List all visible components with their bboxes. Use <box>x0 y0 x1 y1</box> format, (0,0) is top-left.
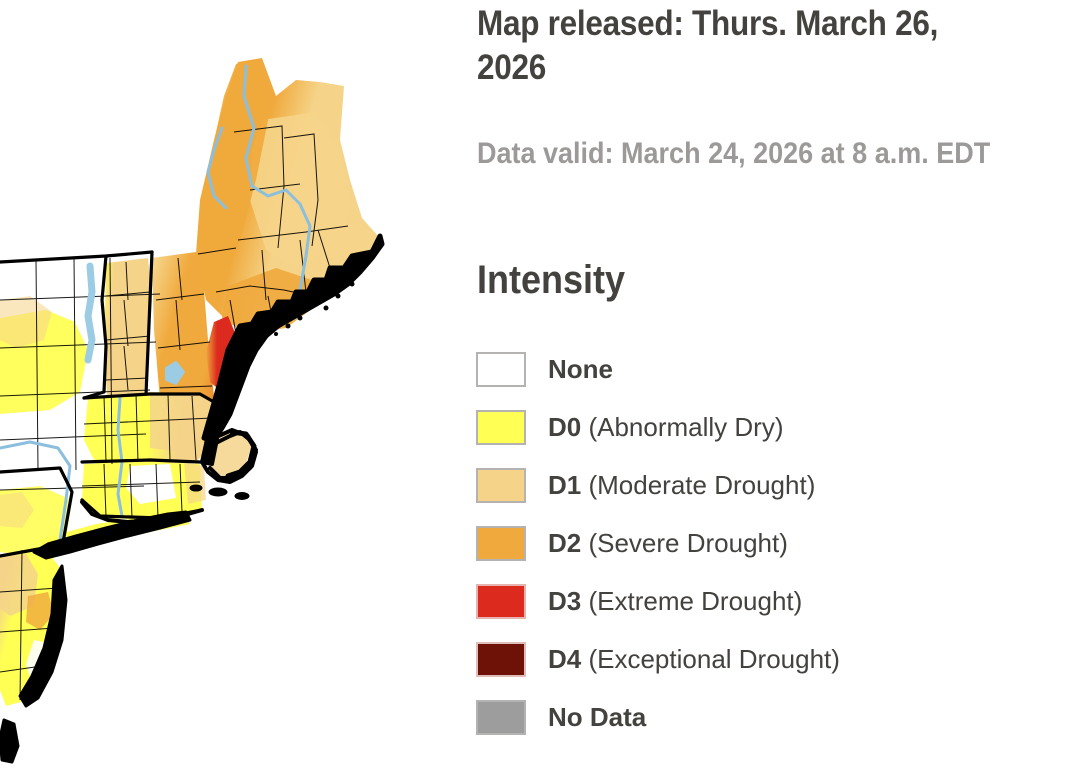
legend-swatch-d0 <box>476 410 526 445</box>
legend-swatch-d2 <box>476 526 526 561</box>
legend-item-d4[interactable]: D4 (Exceptional Drought) <box>476 630 1066 688</box>
legend-item-d1[interactable]: D1 (Moderate Drought) <box>476 456 1066 514</box>
legend-item-d0[interactable]: D0 (Abnormally Dry) <box>476 398 1066 456</box>
legend-swatch-d3 <box>476 584 526 619</box>
legend-label-none: None <box>548 354 613 384</box>
legend-label-d3: D3 (Extreme Drought) <box>548 586 802 616</box>
legend-swatch-d1 <box>476 468 526 503</box>
map-info-panel: Map released: Thurs. March 26, 2026 Data… <box>470 0 1071 768</box>
legend-item-d2[interactable]: D2 (Severe Drought) <box>476 514 1066 572</box>
drought-map-panel <box>0 0 470 768</box>
intensity-heading: Intensity <box>477 256 625 304</box>
legend-swatch-none <box>476 352 526 387</box>
legend-swatch-d4 <box>476 642 526 677</box>
data-valid-subtitle: Data valid: March 24, 2026 at 8 a.m. EDT <box>477 134 1053 174</box>
legend-item-d3[interactable]: D3 (Extreme Drought) <box>476 572 1066 630</box>
intensity-legend: None D0 (Abnormally Dry) D1 (Moderate Dr… <box>476 340 1066 746</box>
legend-item-none[interactable]: None <box>476 340 1066 398</box>
legend-label-d1: D1 (Moderate Drought) <box>548 470 815 500</box>
legend-item-no-data[interactable]: No Data <box>476 688 1066 746</box>
map-released-title: Map released: Thurs. March 26, 2026 <box>477 2 1004 90</box>
legend-label-d0: D0 (Abnormally Dry) <box>548 412 784 442</box>
drought-map-graphic <box>0 0 470 768</box>
legend-label-d4: D4 (Exceptional Drought) <box>548 644 840 674</box>
legend-label-no-data: No Data <box>548 702 646 732</box>
drought-monitor-figure: Map released: Thurs. March 26, 2026 Data… <box>0 0 1071 768</box>
legend-swatch-no-data <box>476 700 526 735</box>
legend-label-d2: D2 (Severe Drought) <box>548 528 788 558</box>
